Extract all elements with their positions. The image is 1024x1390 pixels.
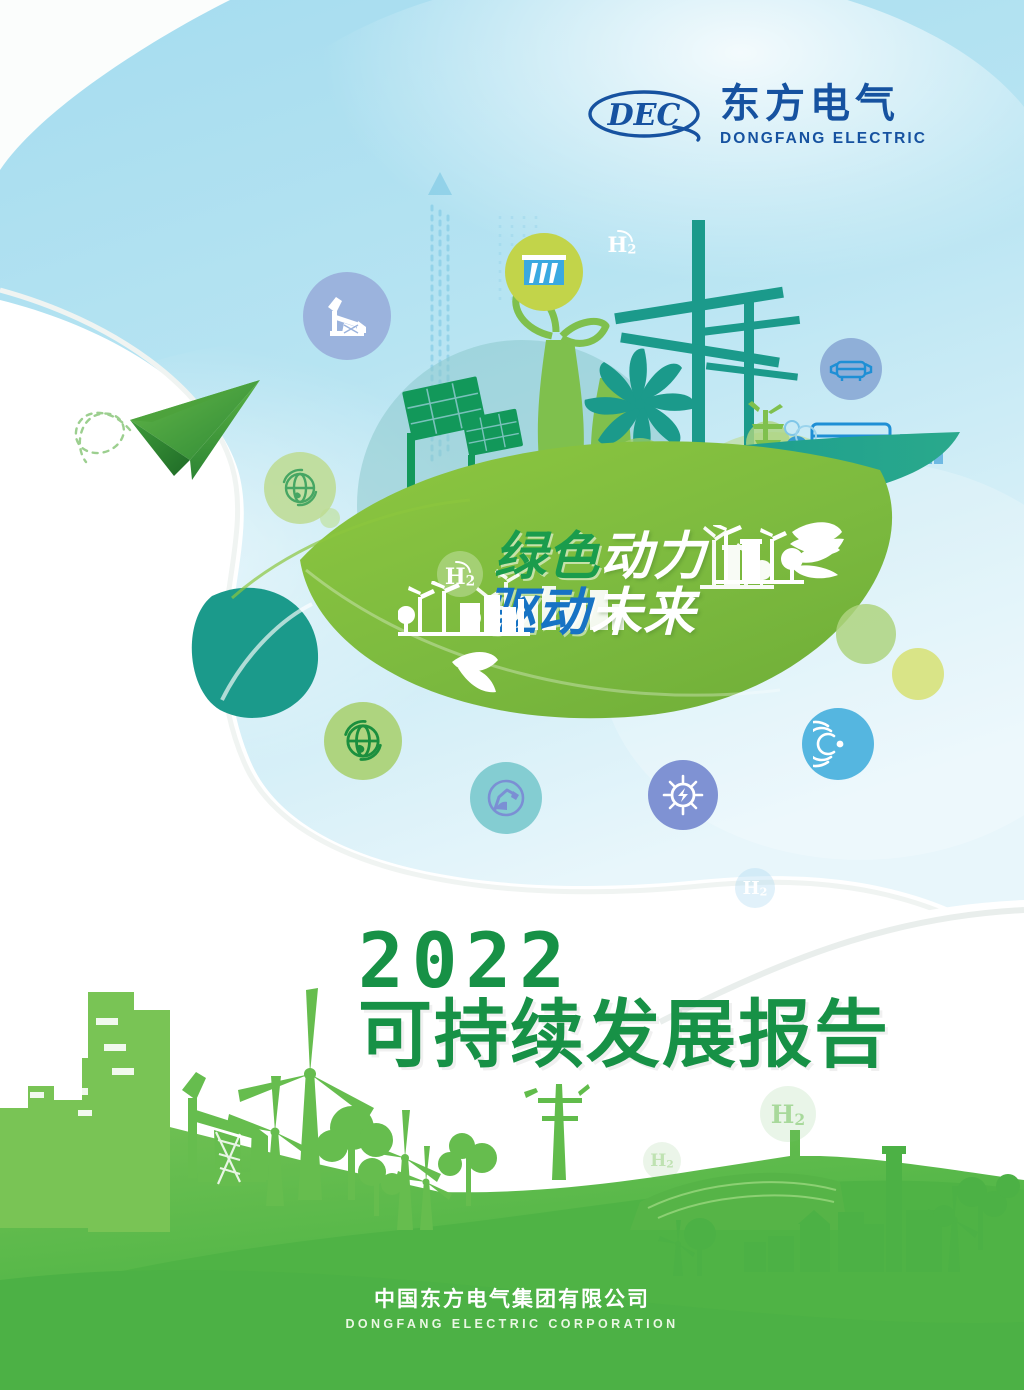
oil-pumpjack-icon	[303, 272, 391, 360]
company-name-cn: 中国东方电气集团有限公司	[0, 1287, 1024, 1313]
hydro-dam-icon	[505, 233, 583, 311]
h2-bubble-lower-right: H2	[760, 1086, 816, 1142]
slogan-leaf-glyph	[788, 529, 850, 585]
h2-bubble-sky: H2	[600, 220, 644, 264]
h2-bubble-mid: H2	[735, 868, 775, 908]
globe-recycle-icon	[264, 452, 336, 524]
slogan-line1-part2: 动力	[600, 528, 706, 586]
solar-power-icon	[648, 760, 718, 830]
slogan-line1-part1: 绿色	[494, 528, 600, 586]
brand-logo: DEC 东方电气 DONGFANG ELECTRIC	[586, 76, 926, 154]
dec-logo-icon: DEC	[586, 87, 706, 143]
slogan-block: 绿色动力 驱动未来	[470, 525, 890, 655]
h2-bubble-lower-left: H2	[643, 1142, 681, 1180]
svg-text:DEC: DEC	[607, 98, 681, 133]
brand-name-cn: 东方电气	[720, 84, 927, 124]
globe-recycle-icon-2	[324, 702, 402, 780]
footer-company: 中国东方电气集团有限公司 DONGFANG ELECTRIC CORPORATI…	[0, 1287, 1024, 1334]
robot-arm-icon	[470, 762, 542, 834]
signal-radar-icon	[802, 708, 874, 780]
report-title-block: 2022 可持续发展报告	[358, 928, 918, 1073]
poster-page: H₂	[0, 0, 1024, 1390]
slogan-line2-part2: 未来	[590, 584, 696, 642]
slogan-industry-glyph-left	[398, 581, 548, 643]
train-icon	[820, 338, 882, 400]
report-title: 可持续发展报告	[358, 997, 918, 1072]
brand-name-en: DONGFANG ELECTRIC	[720, 131, 927, 147]
report-year: 2022	[358, 928, 918, 993]
company-name-en: DONGFANG ELECTRIC CORPORATION	[0, 1316, 1024, 1334]
